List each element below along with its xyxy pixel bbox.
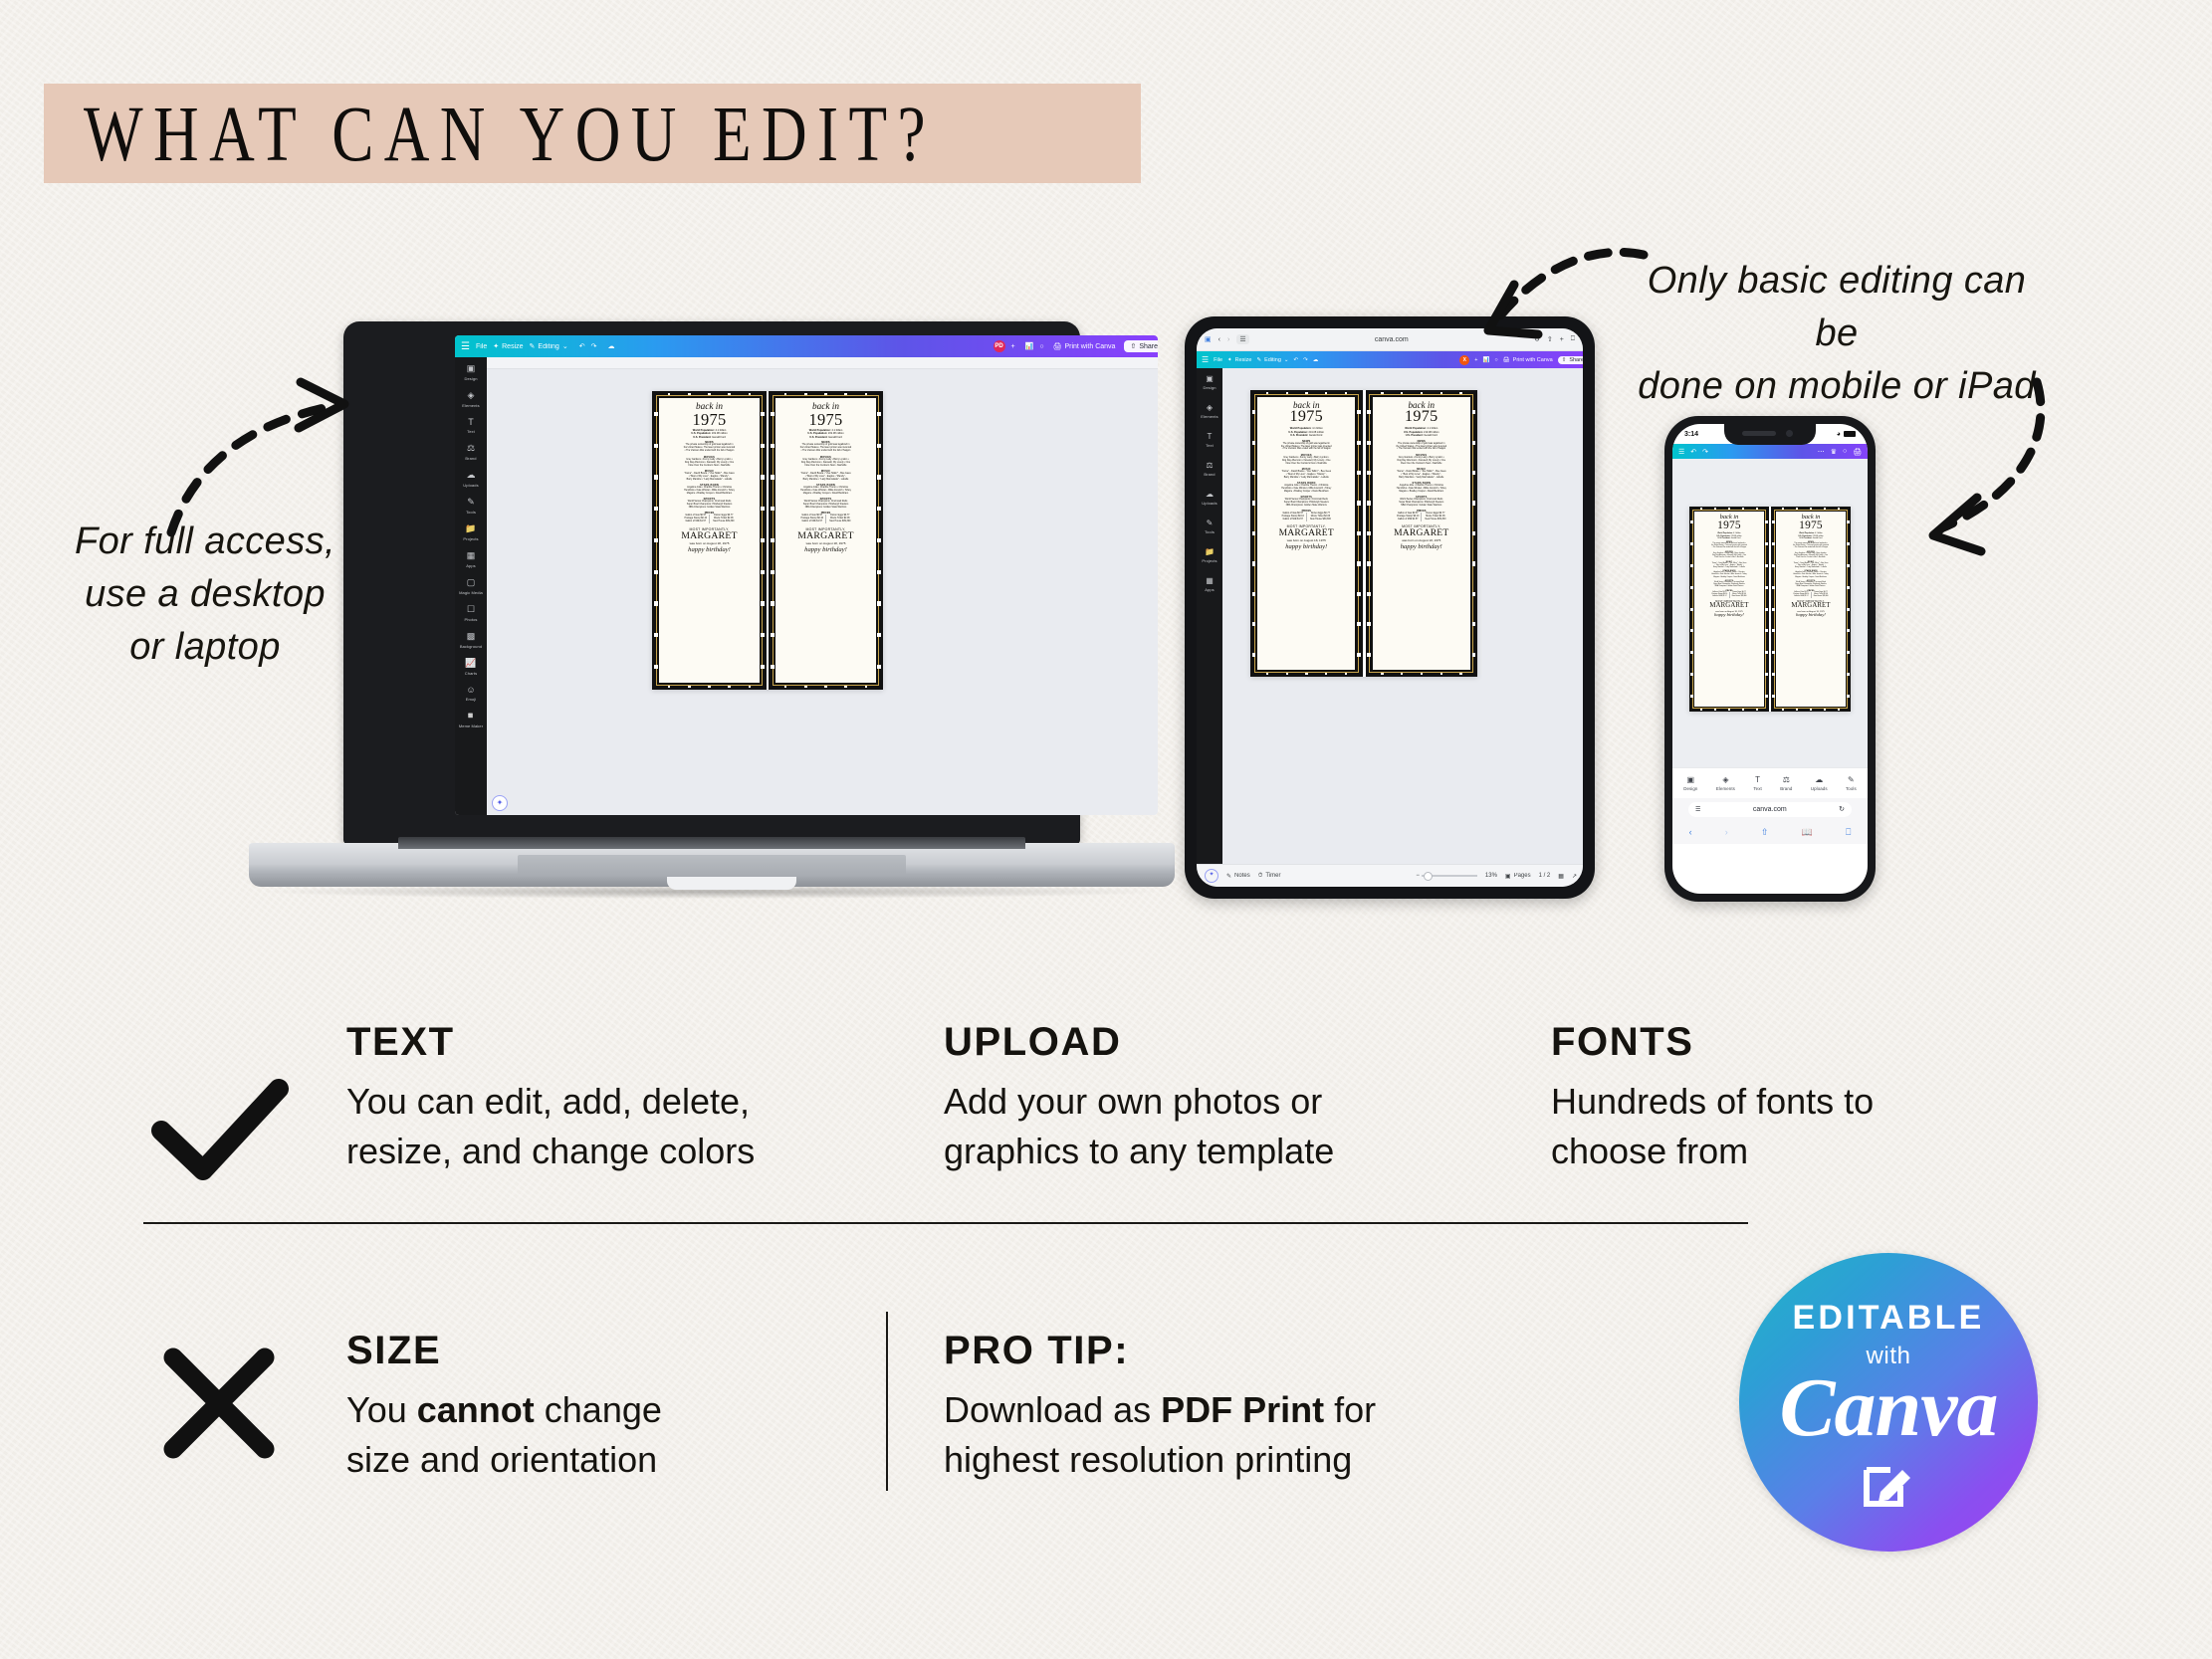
sprocket-hole — [1756, 508, 1758, 510]
laptop-screen: ☰ File ✦Resize ✎Editing⌄ ↶ ↷ ☁ PD + 📊 ○ … — [455, 335, 1158, 815]
sprocket-hole — [1305, 673, 1307, 675]
sidebar-item-design[interactable]: ▣Design — [1203, 374, 1216, 390]
sidebar-item-text[interactable]: TText — [467, 417, 475, 434]
redo-icon[interactable]: ↷ — [591, 342, 597, 350]
phone-canva-toolbar[interactable]: ☰ ↶ ↷ ⋯ ♛ ○ 🖨 ⇧ — [1672, 444, 1868, 459]
ipad-screen: ▣ ‹ › ☰ canva.com ↻ ⇧ + ⎕ ☰ File ✦Resize… — [1197, 328, 1583, 887]
sprocket-hole — [708, 393, 710, 395]
protip-line1-c: for — [1324, 1389, 1376, 1430]
sprocket-hole — [1357, 653, 1361, 657]
pages-button[interactable]: ▣Pages — [1505, 873, 1531, 880]
sprocket-hole — [1252, 561, 1256, 565]
sprocket-hole — [771, 444, 774, 448]
poster-born-line: was born on August 18, 1975 — [663, 541, 756, 545]
poster-year: 1975 — [1376, 410, 1466, 425]
poster-prices: Gallon of Gas $0.57Postage Stamp $0.10Ga… — [663, 515, 756, 523]
menu-file[interactable]: File — [476, 343, 487, 350]
laptop-canvas[interactable]: back in1975World Population: 4.1 billion… — [487, 369, 1158, 815]
reader-icon[interactable]: ☰ — [1695, 806, 1700, 813]
edit-pencil-icon — [1861, 1454, 1916, 1510]
poster-facts: World Population: 4.1 billionU.S. Popula… — [1697, 532, 1762, 539]
sprocket-hole — [877, 507, 881, 511]
poster-born-line: was born on August 18, 1975 — [1697, 611, 1762, 613]
redo-icon[interactable]: ↷ — [1702, 448, 1708, 456]
poster-content: back in1975World Population: 4.1 billion… — [1779, 514, 1844, 706]
sprocket-hole — [761, 633, 765, 637]
feature-line2: resize, and change colors — [346, 1127, 944, 1176]
sprocket-hole — [1765, 520, 1768, 523]
sidebar-item-apps[interactable]: ▦Apps — [1205, 576, 1215, 592]
sidebar-item-background[interactable]: ▩Background — [460, 631, 482, 649]
sidebar-item-charts[interactable]: 📈Charts — [465, 658, 477, 676]
sprocket-hole — [1440, 673, 1442, 675]
sidebar-item-elements-label: Elements — [1201, 414, 1217, 419]
sprocket-hole — [1367, 410, 1371, 414]
tab-brand[interactable]: ⚖Brand — [1780, 775, 1792, 791]
sidebar-item-projects-label: Projects — [1202, 558, 1217, 563]
sidebar-item-background-label: Background — [460, 644, 482, 649]
poster-section-body: World Series Champions: Cincinnati RedsS… — [1376, 499, 1466, 508]
sprocket-hole — [877, 444, 881, 448]
sprocket-hole — [654, 665, 658, 669]
sprocket-hole — [1765, 564, 1768, 567]
sprocket-hole — [1728, 709, 1730, 711]
sprocket-hole — [1472, 561, 1476, 565]
sprocket-hole — [761, 507, 765, 511]
phone-canvas[interactable]: back in1975World Population: 4.1 billion… — [1672, 459, 1868, 767]
poster-content: back in1975World Population: 4.1 billion… — [1697, 514, 1762, 706]
sprocket-hole — [1472, 441, 1476, 445]
sprocket-hole — [1367, 471, 1371, 475]
poster-section-body: World Series Champions: Cincinnati RedsS… — [1697, 582, 1762, 588]
tools-icon: ✎ — [467, 497, 475, 508]
sprocket-hole — [1459, 673, 1461, 675]
phone-browser-bar[interactable]: ☰ canva.com ↻ — [1672, 798, 1868, 820]
sprocket-hole — [1472, 653, 1476, 657]
poster-name: MARGARET — [1376, 528, 1466, 538]
sprocket-hole — [1824, 709, 1826, 711]
feature-line2: highest resolution printing — [944, 1435, 1641, 1485]
feature-fonts: FONTS Hundreds of fonts to choose from — [1551, 1020, 2148, 1176]
bookmarks-icon[interactable]: 📖 — [1802, 827, 1813, 838]
sidebar-item-apps[interactable]: ▦Apps — [466, 550, 476, 568]
feature-line1: You cannot change — [346, 1385, 884, 1435]
tab-elements[interactable]: ◈Elements — [1716, 775, 1735, 791]
analytics-icon[interactable]: 📊 — [1025, 342, 1034, 350]
sprocket-hole — [877, 570, 881, 574]
print-with-canva-button[interactable]: 🖨Print with Canva — [1053, 342, 1116, 350]
elements-icon: ◈ — [1207, 403, 1213, 412]
poster-section-body: "Fame" - David Bowie • "Jive Talkin'" - … — [1261, 471, 1352, 480]
tab-uploads[interactable]: ☁Uploads — [1811, 775, 1828, 791]
sprocket-hole — [1345, 392, 1347, 394]
apps-icon: ▦ — [1206, 576, 1214, 585]
sidebar-item-uploads-label: Uploads — [1202, 501, 1217, 506]
design-icon: ▣ — [1206, 374, 1214, 383]
sidebar-item-meme-maker[interactable]: ◽Meme Maker — [459, 711, 483, 728]
sprocket-hole — [1824, 508, 1826, 510]
uploads-icon: ☁ — [1206, 490, 1214, 499]
poster-born-line: was born on August 18, 1975 — [1779, 611, 1844, 613]
photos-icon: ☐ — [467, 604, 475, 615]
poster-section-body: Grey Gardens • Funny Lady • Barry Lyndon… — [1697, 553, 1762, 559]
sprocket-hole — [771, 665, 774, 669]
poster-page-1[interactable]: back in1975World Population: 4.1 billion… — [1250, 390, 1363, 677]
phone-browser-nav[interactable]: ‹ › ⇧ 📖 ⎕ — [1672, 820, 1868, 844]
magic-icon: ✦ — [1227, 357, 1232, 363]
menu-editing[interactable]: ✎Editing⌄ — [1256, 357, 1288, 363]
sprocket-hole — [1357, 501, 1361, 505]
sprocket-hole — [1772, 651, 1775, 654]
url-text[interactable]: canva.com — [1375, 336, 1409, 343]
sidebar-item-text-label: Text — [1206, 443, 1214, 448]
poster-section-body: World Series Champions: Cincinnati RedsS… — [779, 501, 872, 510]
canva-assistant-icon[interactable]: ✦ — [1205, 869, 1218, 883]
hamburger-menu-icon[interactable]: ☰ — [1202, 355, 1209, 364]
sprocket-hole — [1401, 673, 1403, 675]
undo-icon[interactable]: ↶ — [579, 342, 585, 350]
text-icon: T — [1755, 775, 1760, 784]
pages-icon: ▣ — [1505, 873, 1511, 880]
check-icon — [151, 1075, 291, 1184]
horizontal-divider — [143, 1222, 1748, 1224]
zoom-out-icon[interactable]: − — [1416, 873, 1420, 879]
comment-icon[interactable]: ○ — [1843, 448, 1847, 455]
sidebar-item-brand[interactable]: ⚖Brand — [465, 443, 476, 461]
poster-design[interactable]: back in1975World Population: 4.1 billion… — [652, 391, 883, 690]
feature-upload: UPLOAD Add your own photos or graphics t… — [944, 1020, 1541, 1176]
reload-icon[interactable]: ↻ — [1839, 805, 1845, 813]
zoom-level: 13% — [1485, 873, 1497, 879]
poster-content: back in1975World Population: 4.1 billion… — [779, 400, 872, 680]
phone-body: 3:14 ◕ ☰ ↶ ↷ ⋯ ♛ ○ 🖨 ⇧ — [1664, 416, 1876, 902]
more-options-icon[interactable]: ⋯ — [1818, 448, 1825, 456]
sidebar-item-uploads[interactable]: ☁Uploads — [1202, 490, 1217, 506]
sprocket-hole — [1742, 508, 1744, 510]
poster-section-body: "Fame" - David Bowie • "Jive Talkin'" - … — [1779, 563, 1844, 569]
ipad-status-bar[interactable]: ✦ ✎Notes ⏱Timer − 13% ▣Pages 1 / 2 ▦ ↗ ⓘ — [1197, 864, 1583, 887]
sprocket-hole — [1305, 392, 1307, 394]
menu-file[interactable]: File — [1214, 357, 1222, 363]
sidebar-item-design-label: Design — [1203, 385, 1216, 390]
feature-line1: You can edit, add, delete, — [346, 1077, 944, 1127]
feature-line2: graphics to any template — [944, 1127, 1541, 1176]
add-collaborator-icon[interactable]: + — [1011, 343, 1015, 350]
timer-icon: ⏱ — [1258, 873, 1263, 880]
print-icon[interactable]: 🖨 — [1853, 448, 1862, 456]
share-icon: ⇧ — [1130, 342, 1136, 350]
poster-design[interactable]: back in1975World Population: 4.1 billion… — [1250, 390, 1477, 677]
feature-line1: Add your own photos or — [944, 1077, 1541, 1127]
sprocket-hole — [1772, 542, 1775, 545]
sprocket-hole — [654, 633, 658, 637]
reader-icon[interactable]: ☰ — [1236, 334, 1248, 344]
magic-icon: ✦ — [493, 342, 499, 350]
phone-mockup: 3:14 ◕ ☰ ↶ ↷ ⋯ ♛ ○ 🖨 ⇧ — [1664, 416, 1893, 914]
poster-born-line: was born on August 18, 1975 — [1261, 538, 1352, 542]
sprocket-hole — [1381, 673, 1383, 675]
zoom-slider[interactable]: − — [1416, 873, 1477, 879]
page-title: WHAT CAN YOU EDIT? — [84, 88, 928, 182]
charts-icon: 📈 — [465, 658, 476, 669]
sprocket-hole — [1252, 441, 1256, 445]
pencil-icon: ✎ — [1256, 357, 1261, 363]
sidebar-item-apps-label: Apps — [1205, 587, 1215, 592]
sprocket-hole — [1472, 501, 1476, 505]
sprocket-hole — [1772, 586, 1775, 589]
pages-label: Pages — [1514, 873, 1531, 879]
sprocket-hole — [728, 393, 730, 395]
ipad-body: ▣ ‹ › ☰ canva.com ↻ ⇧ + ⎕ ☰ File ✦Resize… — [1185, 316, 1595, 899]
sprocket-hole — [1765, 586, 1768, 589]
background-icon: ▩ — [467, 631, 476, 642]
feature-heading: PRO TIP: — [944, 1329, 1641, 1373]
x-icon — [159, 1344, 279, 1463]
feature-text: TEXT You can edit, add, delete, resize, … — [346, 1020, 944, 1176]
laptop-canva-sidebar[interactable]: ▣Design ◈Elements TText ⚖Brand ☁Uploads … — [455, 357, 487, 815]
sidebar-item-uploads[interactable]: ☁Uploads — [463, 470, 478, 488]
redo-icon[interactable]: ↷ — [1303, 357, 1308, 363]
poster-design[interactable]: back in1975World Population: 4.1 billion… — [1689, 507, 1851, 712]
poster-section-body: "Fame" - David Bowie • "Jive Talkin'" - … — [1697, 563, 1762, 569]
badge-canva-label: Canva — [1779, 1368, 1997, 1448]
sprocket-hole — [1756, 709, 1758, 711]
sidebar-item-photos[interactable]: ☐Photos — [464, 604, 477, 622]
feature-heading: UPLOAD — [944, 1020, 1541, 1065]
sprocket-hole — [1367, 592, 1371, 596]
poster-section-body: The private ownership of gold was legali… — [1376, 443, 1466, 452]
tab-design-label: Design — [1683, 786, 1697, 791]
sidebar-item-elements-label: Elements — [462, 403, 479, 408]
sprocket-hole — [1252, 531, 1256, 535]
vertical-divider — [886, 1312, 888, 1491]
sprocket-hole — [1357, 561, 1361, 565]
sprocket-hole — [749, 686, 751, 688]
sprocket-hole — [1690, 542, 1693, 545]
sprocket-hole — [1772, 695, 1775, 698]
canva-assistant-icon[interactable]: ✦ — [492, 795, 508, 811]
sprocket-hole — [761, 601, 765, 605]
poster-page-1[interactable]: back in1975World Population: 4.1 billion… — [1689, 507, 1769, 712]
chevron-down-icon: ⌄ — [1284, 357, 1289, 363]
poster-page-2[interactable]: back in1975World Population: 4.1 billion… — [1366, 390, 1478, 677]
size-line1-bold: cannot — [417, 1389, 535, 1430]
sidebar-item-brand[interactable]: ⚖Brand — [1204, 461, 1215, 477]
sprocket-hole — [1838, 508, 1840, 510]
back-icon[interactable]: ‹ — [1689, 827, 1692, 837]
sprocket-hole — [1690, 520, 1693, 523]
sprocket-hole — [1381, 392, 1383, 394]
size-line1-c: change — [535, 1389, 662, 1430]
sidebar-item-magic-media[interactable]: ▢Magic Media — [459, 577, 483, 595]
sprocket-hole — [1472, 592, 1476, 596]
sidebar-item-emoji[interactable]: ☺Emoji — [466, 685, 477, 702]
poster-closing: happy birthday! — [663, 546, 756, 553]
sidebar-item-elements[interactable]: ◈Elements — [462, 390, 479, 408]
poster-page-2[interactable]: back in1975World Population: 4.1 billion… — [1771, 507, 1851, 712]
sprocket-hole — [1847, 542, 1850, 545]
phone-speaker — [1742, 431, 1776, 436]
sidebar-item-elements[interactable]: ◈Elements — [1201, 403, 1217, 419]
sprocket-hole — [804, 393, 806, 395]
sprocket-hole — [668, 393, 670, 395]
brand-icon: ⚖ — [1206, 461, 1213, 470]
sidebar-toggle-icon[interactable]: ▣ — [1205, 335, 1212, 343]
share-button[interactable]: ⇧Share — [1124, 340, 1158, 352]
forward-icon[interactable]: › — [1227, 336, 1229, 343]
poster-closing: happy birthday! — [779, 546, 872, 553]
sidebar-item-text[interactable]: TText — [1206, 432, 1214, 448]
sidebar-item-brand-label: Brand — [1204, 472, 1215, 477]
sidebar-item-projects[interactable]: 📁Projects — [463, 523, 478, 541]
tab-elements-label: Elements — [1716, 786, 1735, 791]
feature-heading: FONTS — [1551, 1020, 2148, 1065]
poster-section-body: Angelina Jolie • Charlize Theron • Chris… — [1376, 485, 1466, 494]
sprocket-hole — [1459, 392, 1461, 394]
menu-resize[interactable]: ✦Resize — [493, 342, 523, 350]
comment-icon[interactable]: ○ — [1039, 343, 1043, 350]
sprocket-hole — [1847, 651, 1850, 654]
poster-name: MARGARET — [779, 531, 872, 541]
timer-button[interactable]: ⏱Timer — [1258, 873, 1281, 880]
annotation-desktop: For full access, use a desktop or laptop — [56, 516, 354, 674]
sprocket-hole — [771, 412, 774, 416]
sidebar-item-design[interactable]: ▣Design — [464, 363, 477, 381]
poster-closing: happy birthday! — [1376, 543, 1466, 550]
sprocket-hole — [1765, 629, 1768, 632]
poster-facts: World Population: 4.1 billionU.S. Popula… — [663, 429, 756, 439]
feature-heading: SIZE — [346, 1329, 884, 1373]
sprocket-hole — [761, 538, 765, 542]
poster-prices: Gallon of Gas $0.57Postage Stamp $0.10Ga… — [1697, 592, 1762, 598]
laptop-canva-toolbar[interactable]: ☰ File ✦Resize ✎Editing⌄ ↶ ↷ ☁ PD + 📊 ○ … — [455, 335, 1158, 357]
poster-section-body: The private ownership of gold was legali… — [1779, 543, 1844, 549]
url-field[interactable]: ☰ canva.com ↻ — [1688, 802, 1852, 817]
sprocket-hole — [771, 507, 774, 511]
phone-screen: 3:14 ◕ ☰ ↶ ↷ ⋯ ♛ ○ 🖨 ⇧ — [1672, 424, 1868, 894]
poster-born-line: was born on August 18, 1975 — [1376, 538, 1466, 542]
sprocket-hole — [1325, 392, 1327, 394]
sprocket-hole — [1367, 561, 1371, 565]
tab-design[interactable]: ▣Design — [1683, 775, 1697, 791]
poster-facts: World Population: 4.1 billionU.S. Popula… — [1779, 532, 1844, 539]
sprocket-hole — [1472, 622, 1476, 626]
sidebar-item-charts-label: Charts — [465, 671, 477, 676]
sidebar-item-design-label: Design — [464, 376, 477, 381]
sprocket-hole — [1286, 673, 1288, 675]
sprocket-hole — [1772, 608, 1775, 611]
menu-resize[interactable]: ✦Resize — [1227, 357, 1251, 363]
sprocket-hole — [1772, 673, 1775, 676]
cloud-sync-icon: ☁ — [1313, 357, 1319, 363]
poster-section-body: World Series Champions: Cincinnati RedsS… — [1261, 499, 1352, 508]
sprocket-hole — [1765, 608, 1768, 611]
grid-view-icon[interactable]: ▦ — [1558, 873, 1564, 880]
printer-icon: 🖨 — [1053, 342, 1062, 350]
design-icon: ▣ — [1687, 775, 1695, 784]
poster-facts: World Population: 4.1 billionU.S. Popula… — [1261, 427, 1352, 437]
back-icon[interactable]: ‹ — [1218, 336, 1220, 343]
ipad-canva-sidebar[interactable]: ▣Design ◈Elements TText ⚖Brand ☁Uploads … — [1197, 368, 1222, 872]
elements-icon: ◈ — [468, 390, 475, 401]
sprocket-hole — [1838, 709, 1840, 711]
url-text[interactable]: canva.com — [1753, 806, 1787, 813]
sprocket-hole — [1367, 622, 1371, 626]
sidebar-item-tools[interactable]: ✎Tools — [466, 497, 476, 515]
sidebar-item-tools-label: Tools — [1205, 529, 1215, 534]
sprocket-hole — [1796, 709, 1798, 711]
sprocket-hole — [688, 686, 690, 688]
sprocket-hole — [1765, 695, 1768, 698]
fullscreen-icon[interactable]: ↗ — [1572, 873, 1577, 880]
hamburger-menu-icon[interactable]: ☰ — [461, 341, 470, 352]
notes-button[interactable]: ✎Notes — [1226, 873, 1250, 880]
poster-page-1[interactable]: back in1975World Population: 4.1 billion… — [652, 391, 767, 690]
poster-prices: Gallon of Gas $0.57Postage Stamp $0.10Ga… — [1779, 592, 1844, 598]
sprocket-hole — [804, 686, 806, 688]
sprocket-hole — [688, 393, 690, 395]
timer-label: Timer — [1265, 873, 1280, 879]
crown-icon[interactable]: ♛ — [1831, 448, 1837, 456]
menu-resize-label: Resize — [1235, 357, 1252, 363]
poster-year: 1975 — [779, 412, 872, 427]
size-line1-a: You — [346, 1389, 417, 1430]
poster-page-2[interactable]: back in1975World Population: 4.1 billion… — [769, 391, 883, 690]
tabs-icon[interactable]: ⎕ — [1846, 827, 1851, 838]
emoji-icon: ☺ — [466, 685, 475, 695]
battery-icon — [1844, 431, 1856, 437]
share-icon[interactable]: ⇧ — [1761, 827, 1769, 838]
pencil-icon: ✎ — [530, 342, 536, 350]
sprocket-hole — [844, 686, 846, 688]
hamburger-menu-icon[interactable]: ☰ — [1678, 448, 1684, 456]
sidebar-item-projects-label: Projects — [463, 536, 478, 541]
sprocket-hole — [654, 538, 658, 542]
ipad-canvas[interactable]: back in1975World Population: 4.1 billion… — [1222, 368, 1583, 866]
annotation-mobile-line1: Only basic editing can be — [1623, 255, 2051, 360]
avatar[interactable]: PD — [994, 340, 1005, 352]
forward-icon[interactable]: › — [1725, 827, 1728, 837]
poster-closing: happy birthday! — [1261, 543, 1352, 550]
sprocket-hole — [1765, 651, 1768, 654]
undo-icon[interactable]: ↶ — [1690, 448, 1696, 456]
poster-year: 1975 — [1779, 520, 1844, 531]
tab-tools[interactable]: ✎Tools — [1846, 775, 1857, 791]
tab-text[interactable]: TText — [1753, 775, 1761, 791]
poster-year: 1975 — [1261, 410, 1352, 425]
poster-closing: happy birthday! — [1779, 613, 1844, 618]
phone-canva-tabs[interactable]: ▣Design ◈Elements TText ⚖Brand ☁Uploads … — [1672, 767, 1868, 798]
sidebar-item-projects[interactable]: 📁Projects — [1202, 547, 1217, 563]
menu-editing-label: Editing — [538, 343, 558, 350]
sprocket-hole — [1401, 392, 1403, 394]
poster-section-body: Grey Gardens • Funny Lady • Barry Lyndon… — [1376, 457, 1466, 466]
sprocket-hole — [1810, 508, 1812, 510]
poster-section-body: Grey Gardens • Funny Lady • Barry Lyndon… — [1779, 553, 1844, 559]
sidebar-item-tools[interactable]: ✎Tools — [1205, 518, 1215, 534]
undo-icon[interactable]: ↶ — [1294, 357, 1299, 363]
sprocket-hole — [1847, 629, 1850, 632]
poster-year: 1975 — [663, 412, 756, 427]
sprocket-hole — [728, 686, 730, 688]
menu-editing[interactable]: ✎Editing⌄ — [530, 342, 568, 350]
sidebar-item-apps-label: Apps — [466, 563, 476, 568]
poster-section-body: The private ownership of gold was legali… — [779, 444, 872, 453]
ipad-mockup: ▣ ‹ › ☰ canva.com ↻ ⇧ + ⎕ ☰ File ✦Resize… — [1185, 316, 1613, 914]
tab-brand-label: Brand — [1780, 786, 1792, 791]
poster-year: 1975 — [1697, 520, 1762, 531]
poster-born-line: was born on August 18, 1975 — [779, 541, 872, 545]
